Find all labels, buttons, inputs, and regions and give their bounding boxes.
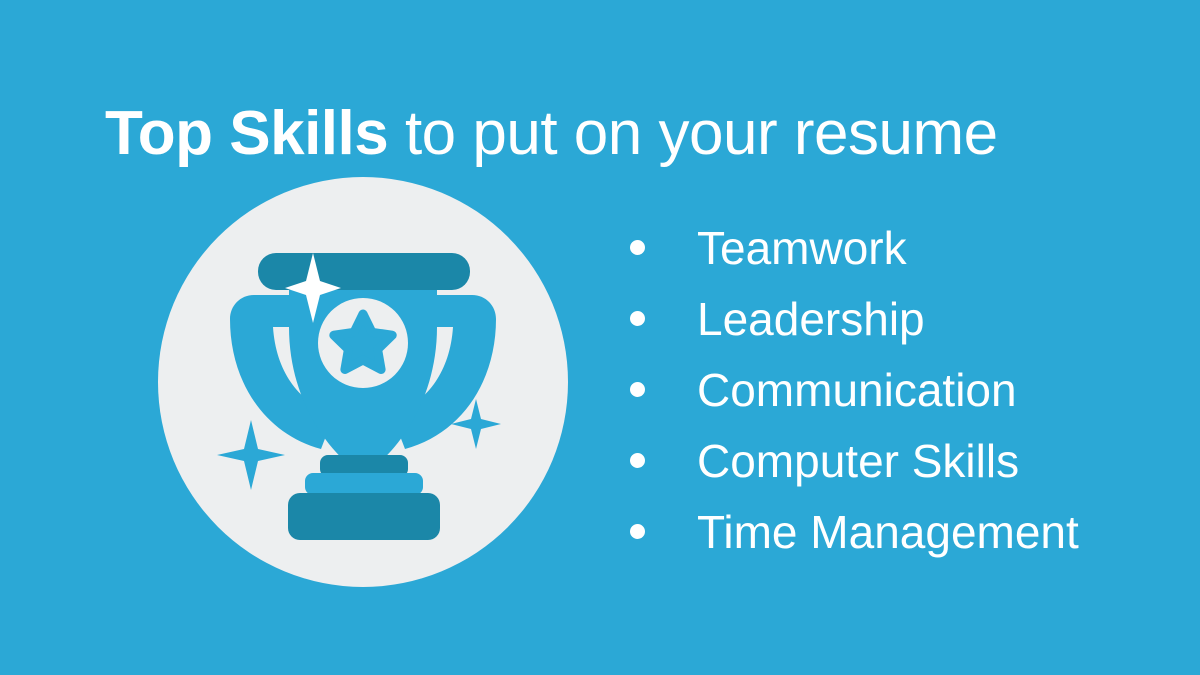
bullet-icon <box>630 524 645 539</box>
slide-canvas: Top Skills to put on your resume <box>0 0 1200 675</box>
list-item: Communication <box>620 354 1160 425</box>
bullet-icon <box>630 453 645 468</box>
page-title: Top Skills to put on your resume <box>105 94 1165 174</box>
list-item: Computer Skills <box>620 425 1160 496</box>
skill-label: Communication <box>697 367 1017 413</box>
list-item: Teamwork <box>620 212 1160 283</box>
skill-label: Time Management <box>697 509 1079 555</box>
skill-label: Teamwork <box>697 225 907 271</box>
list-item: Leadership <box>620 283 1160 354</box>
bullet-icon <box>630 240 645 255</box>
skills-list: Teamwork Leadership Communication Comput… <box>620 212 1160 567</box>
page-title-regular: to put on your resume <box>388 99 997 168</box>
trophy-base-bottom <box>288 493 440 540</box>
bullet-icon <box>630 311 645 326</box>
trophy-badge <box>158 177 568 587</box>
trophy-base-middle <box>305 473 423 495</box>
page-title-bold: Top Skills <box>105 99 388 168</box>
list-item: Time Management <box>620 496 1160 567</box>
bullet-icon <box>630 382 645 397</box>
trophy-rim <box>258 253 470 290</box>
skill-label: Leadership <box>697 296 925 342</box>
skill-label: Computer Skills <box>697 438 1019 484</box>
